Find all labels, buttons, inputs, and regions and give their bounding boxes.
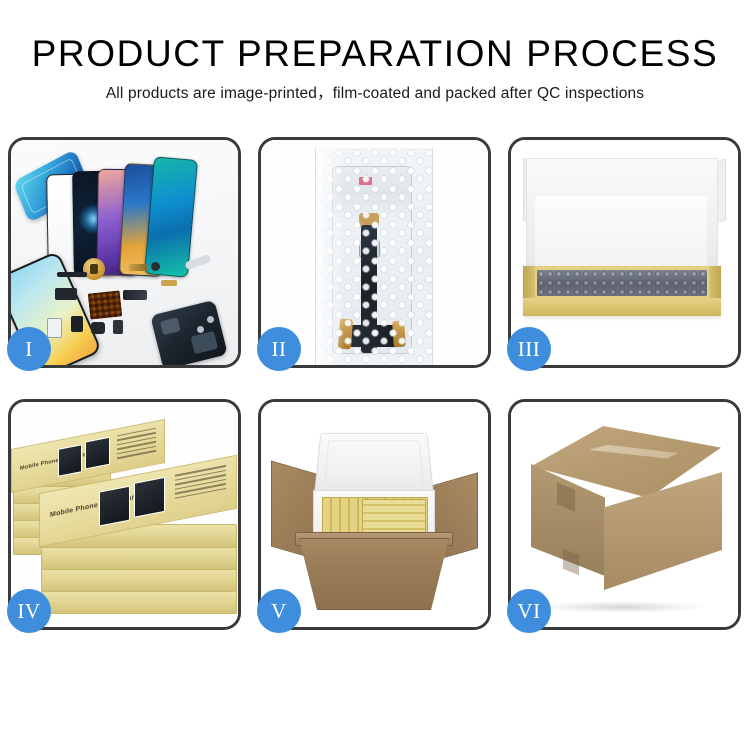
step-3-image (511, 140, 738, 365)
bubble-wrapped-contents (537, 270, 707, 296)
step-2-image (261, 140, 488, 365)
small-part (161, 280, 177, 286)
tray-front-wall (523, 298, 721, 316)
step-4-image: Mobile Phone Spare Parts Mobile Phone Sp… (11, 402, 238, 627)
box-spec-lines (175, 465, 226, 512)
step-badge-2: II (257, 327, 301, 371)
small-part (55, 288, 77, 300)
screw-part (207, 316, 214, 323)
screw-part (197, 326, 204, 333)
step-1-image (11, 140, 238, 365)
step-badge-5: V (257, 589, 301, 633)
step-badge-6: VI (507, 589, 551, 633)
box-phone-graphic (99, 486, 130, 526)
page-header: PRODUCT PREPARATION PROCESS All products… (0, 0, 750, 106)
page-title: PRODUCT PREPARATION PROCESS (0, 32, 750, 76)
retail-box-side (41, 590, 237, 614)
speaker-coil-part (83, 258, 105, 280)
small-part (151, 262, 160, 271)
small-part (123, 290, 147, 300)
box-phone-graphic (58, 444, 83, 477)
retail-box-side (41, 546, 237, 570)
box-phone-graphic (85, 437, 110, 470)
process-step-6[interactable]: VI (508, 399, 741, 630)
carton-shadow (537, 601, 707, 613)
small-part (57, 272, 87, 277)
bag-highlight (316, 148, 346, 365)
chip-grid-part (88, 290, 123, 319)
process-step-2[interactable]: II (258, 137, 491, 368)
small-part (113, 320, 123, 334)
process-step-4[interactable]: Mobile Phone Spare Parts Mobile Phone Sp… (8, 399, 241, 630)
small-part (47, 318, 62, 338)
step-5-image (261, 402, 488, 627)
process-step-1[interactable]: I (8, 137, 241, 368)
retail-box-stack: Mobile Phone Spare Parts Mobile Phone Sp… (11, 428, 238, 618)
small-part (91, 322, 105, 334)
small-part (129, 264, 147, 271)
foam-sheet (535, 196, 707, 272)
carton-body (299, 538, 449, 610)
retail-box-side (41, 568, 237, 592)
step-badge-4: IV (7, 589, 51, 633)
process-step-grid: I II (8, 137, 742, 630)
process-step-5[interactable]: V (258, 399, 491, 630)
box-spec-lines (117, 428, 157, 466)
box-label-text: Mobile Phone Spare Parts (20, 450, 94, 472)
process-step-3[interactable]: III (508, 137, 741, 368)
small-part (71, 316, 83, 332)
yellow-inner-box (523, 266, 721, 316)
bubble-wrap-bag (315, 148, 433, 365)
step-badge-3: III (507, 327, 551, 371)
box-phone-graphic (134, 477, 165, 517)
page-subtitle: All products are image-printed，film-coat… (0, 82, 750, 106)
step-6-image (511, 402, 738, 627)
step-badge-1: I (7, 327, 51, 371)
